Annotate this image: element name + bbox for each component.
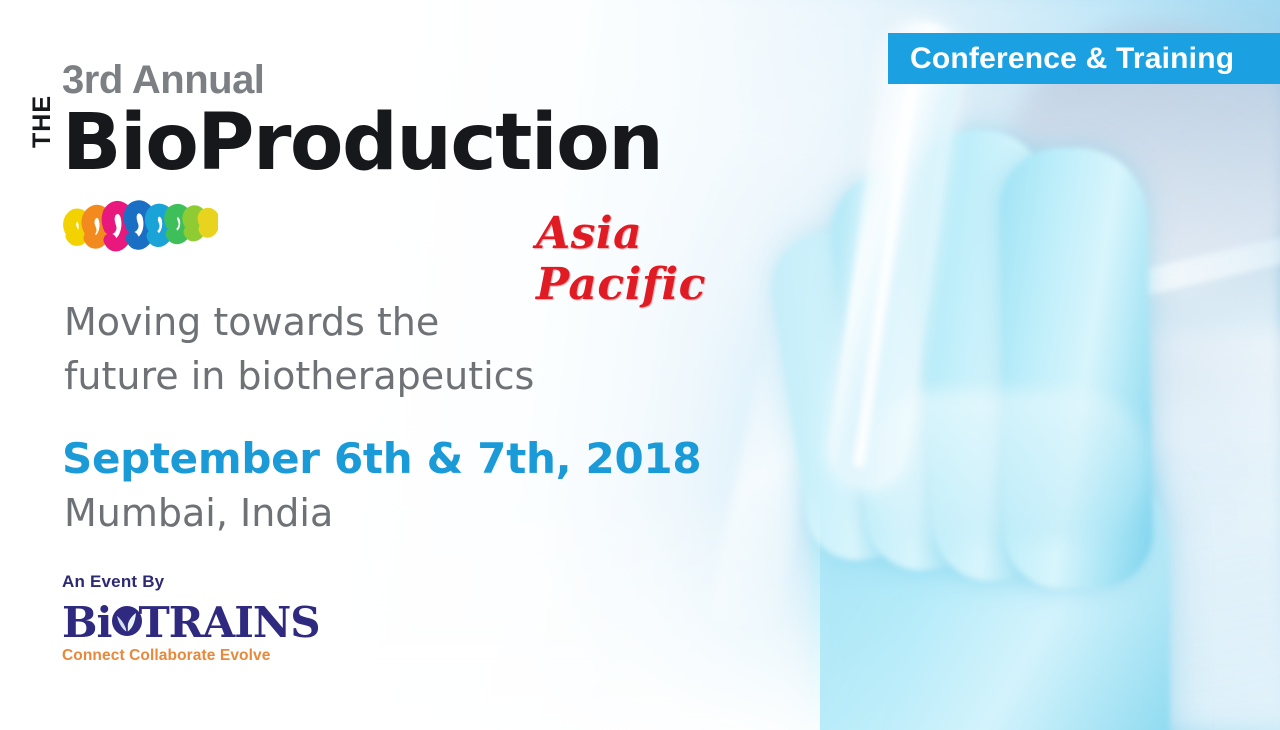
region-label: Asia Pacific bbox=[536, 208, 800, 310]
conference-training-badge: Conference & Training bbox=[888, 33, 1280, 84]
logo-wordmark: BioProduction bbox=[62, 98, 662, 188]
biotrains-name-part2: TRAINS bbox=[138, 598, 319, 647]
leaf-circle-icon bbox=[111, 605, 143, 637]
biotrains-logo: BioTRAINS bbox=[62, 598, 382, 642]
conference-banner: Conference & Training 3rd Annual THE Bio… bbox=[0, 0, 1280, 730]
badge-label: Conference & Training bbox=[910, 42, 1234, 76]
event-location: Mumbai, India bbox=[64, 491, 333, 535]
edition-label: 3rd Annual bbox=[62, 58, 264, 103]
tagline-line-1: Moving towards the bbox=[64, 296, 534, 350]
banner-content: 3rd Annual THE BioProduction Asia Pacifi… bbox=[0, 0, 800, 730]
biotrains-wordmark: BioTRAINS bbox=[62, 598, 320, 647]
organizer-intro: An Event By bbox=[62, 572, 382, 592]
organizer-slogan: Connect Collaborate Evolve bbox=[62, 647, 382, 665]
tagline-line-2: future in biotherapeutics bbox=[64, 350, 534, 404]
rainbow-ribbon-icon bbox=[58, 192, 218, 264]
organizer-block: An Event By BioTRAINS Connect Collaborat… bbox=[62, 572, 382, 665]
biotrains-name-part1: Bi bbox=[62, 598, 111, 647]
event-tagline: Moving towards the future in biotherapeu… bbox=[64, 296, 534, 404]
logo-the-prefix: THE bbox=[28, 95, 57, 148]
event-date: September 6th & 7th, 2018 bbox=[62, 434, 701, 483]
